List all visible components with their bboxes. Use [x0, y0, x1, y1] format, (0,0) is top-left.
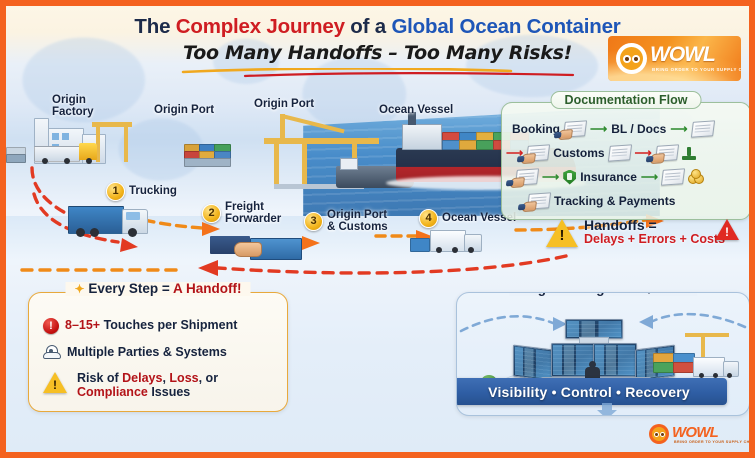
step-3-origin-port-customs[interactable]: 3 Origin Port & Customs — [304, 209, 388, 233]
header: The Complex Journey of a Global Ocean Co… — [6, 6, 749, 90]
risk-compliance: Compliance — [77, 385, 148, 399]
touches-text: Touches per Shipment — [100, 318, 237, 332]
trucking-windshield — [126, 212, 140, 220]
step-number: 2 — [202, 204, 221, 223]
coins-icon — [688, 171, 705, 184]
arrow-right-green-icon: ⟶ — [641, 171, 658, 183]
bullet-risk: Risk of Delays, Loss, orCompliance Issue… — [43, 371, 218, 399]
container — [653, 362, 675, 373]
label-origin-port-2: Origin Port — [254, 98, 314, 110]
warning-triangle-icon — [546, 219, 578, 247]
arrow-right-green-icon: ⟶ — [670, 123, 687, 135]
wowl-logo-footer[interactable]: WOWL BRING ORDER TO YOUR SUPPLY CHAIN — [649, 421, 737, 447]
handoffs-line1: Handoffs = — [584, 218, 725, 233]
tracking-payments-label: Tracking & Payments — [554, 194, 675, 208]
documentation-flow-title: Documentation Flow — [551, 91, 702, 109]
itms-banner-text: Visibility • Control • Recovery — [488, 384, 690, 400]
itms-tower-screen — [565, 319, 623, 339]
wheel — [468, 247, 474, 253]
warning-triangle-red-icon — [715, 219, 739, 240]
network-icon — [43, 345, 61, 359]
step-2-freight-forwarder[interactable]: 2 Freight Forwarder — [202, 201, 281, 225]
insurance-label: Insurance — [580, 170, 637, 184]
itms-outcome-banner: Visibility • Control • Recovery — [456, 378, 727, 405]
handoffs-warning: Handoffs = Delays + Errors + Costs — [546, 218, 739, 247]
parties-text: Multiple Parties & Systems — [67, 345, 227, 359]
panel-left-title-accent: A Handoff! — [173, 281, 241, 296]
documentation-flow-panel: Documentation Flow Booking ⟶ BL / Docs ⟶… — [501, 102, 749, 220]
document-icon — [527, 192, 551, 209]
hand-icon — [234, 242, 262, 257]
bullet-parties: Multiple Parties & Systems — [43, 345, 227, 359]
document-icon — [655, 144, 679, 161]
document-icon — [661, 168, 685, 185]
owl-icon — [616, 43, 647, 74]
brand-wordmark: WOWL — [650, 43, 715, 67]
wheel — [727, 373, 732, 378]
touches-count: 8–15+ — [65, 318, 100, 332]
every-step-handoff-panel: ✦ Every Step = A Handoff! ! 8–15+ Touche… — [28, 292, 288, 412]
wheel — [76, 228, 85, 237]
risk-delays: Delays — [122, 371, 162, 385]
arrow-right-green-icon: ⟶ — [590, 123, 607, 135]
itms-screen-left — [513, 345, 553, 382]
panel-left-title-plain: Every Step = — [88, 281, 173, 296]
document-icon — [607, 144, 631, 161]
poster-canvas: The Complex Journey of a Global Ocean Co… — [6, 6, 749, 452]
wowl-logo-header[interactable]: WOWL BRING ORDER TO YOUR SUPPLY CHAIN — [608, 36, 741, 81]
risk-pre: Risk of — [77, 371, 122, 385]
doc-row-tracking: Tracking & Payments — [528, 193, 675, 209]
step-number: 3 — [304, 212, 323, 231]
booking-label: Booking — [512, 122, 560, 136]
customs-label: Customs — [553, 146, 604, 160]
brand-tagline: BRING ORDER TO YOUR SUPPLY CHAIN — [652, 67, 741, 72]
factory-window — [52, 133, 59, 140]
document-icon — [515, 168, 539, 185]
title-segment-global-ocean-container: Global Ocean Container — [391, 15, 620, 38]
document-icon — [690, 120, 714, 137]
panel-left-title: ✦ Every Step = A Handoff! — [66, 282, 251, 296]
document-icon — [563, 120, 587, 137]
exclamation-circle-icon: ! — [43, 318, 59, 334]
arrow-right-green-icon: ⟶ — [542, 171, 559, 183]
doc-row-insurance: ⟶ Insurance ⟶ — [516, 169, 705, 185]
origin-management-itms-panel: Origin Management / ITMS — [456, 292, 749, 416]
bullet-touches: ! 8–15+ Touches per Shipment — [43, 318, 237, 334]
label-origin-factory: Origin Factory — [52, 94, 94, 119]
warning-triangle-icon — [43, 372, 67, 393]
step-number: 4 — [419, 209, 438, 228]
yard-truck-trailer — [693, 357, 725, 377]
doc-row-customs: ⟶ Customs ⟶ — [506, 145, 696, 161]
star-icon: ✦ — [75, 282, 85, 296]
step-label: Freight Forwarder — [225, 201, 281, 225]
handoffs-line2: Delays + Errors + Costs — [584, 233, 725, 247]
wheel — [436, 247, 442, 253]
document-icon — [526, 144, 550, 161]
owl-icon — [649, 424, 669, 444]
container — [673, 362, 695, 373]
subtitle-underline-swoosh — [181, 68, 601, 78]
title-segment-of-a: of a — [345, 15, 392, 38]
step-label: Origin Port & Customs — [327, 209, 388, 233]
factory-window — [62, 133, 69, 140]
risk-post: , or — [199, 371, 218, 385]
title-segment-the: The — [134, 15, 175, 38]
shield-icon — [563, 170, 576, 185]
label-ocean-vessel: Ocean Vessel — [379, 104, 453, 116]
step-1-trucking[interactable]: 1 Trucking — [106, 182, 177, 201]
panel-right-title: Origin Management / ITMS — [509, 292, 697, 296]
bl-docs-label: BL / Docs — [611, 122, 666, 136]
step-number: 1 — [106, 182, 125, 201]
brand-wordmark: WOWL — [672, 424, 718, 441]
wheel — [452, 247, 458, 253]
doc-row-booking: Booking ⟶ BL / Docs ⟶ — [512, 121, 714, 137]
yard-crane-beam — [685, 333, 729, 337]
container — [410, 238, 430, 252]
step-label: Trucking — [129, 185, 177, 197]
risk-issues: Issues — [148, 385, 190, 399]
title-segment-complex-journey: Complex Journey — [176, 15, 345, 38]
risk-loss: Loss — [169, 371, 198, 385]
itms-down-arrow — [597, 403, 617, 416]
infographic-poster: The Complex Journey of a Global Ocean Co… — [0, 0, 755, 458]
wheel — [128, 228, 137, 237]
brand-tagline: BRING ORDER TO YOUR SUPPLY CHAIN — [674, 440, 749, 444]
stamp-icon — [682, 147, 696, 160]
label-origin-port-1: Origin Port — [154, 104, 214, 116]
wheel — [90, 228, 99, 237]
